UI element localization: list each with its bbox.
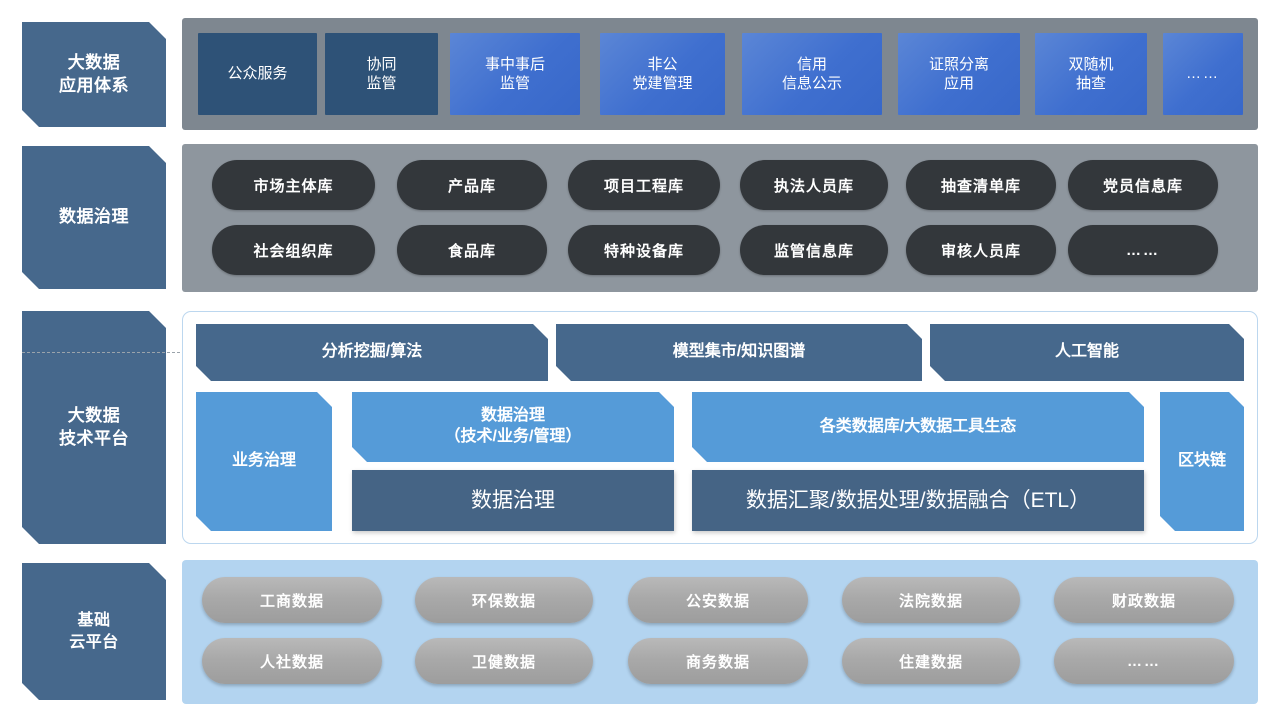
app-cell-line1: 公众服务 — [227, 64, 287, 84]
app-cell-nonpublic-party-building[interactable]: 非公 党建管理 — [600, 33, 725, 115]
tier-label-app-system[interactable]: 大数据 应用体系 — [22, 22, 166, 127]
app-cell-line2: 抽查 — [1068, 74, 1113, 94]
tech-box-etl[interactable]: 数据汇聚/数据处理/数据融合（ETL） — [692, 470, 1144, 531]
gov-pill-label: 监管信息库 — [774, 240, 854, 261]
gov-pill-supervision-info[interactable]: 监管信息库 — [740, 225, 888, 275]
tier-label-cloud-platform[interactable]: 基础 云平台 — [22, 563, 166, 700]
app-cell-line2: 信息公示 — [782, 74, 842, 94]
cloud-pill-label: 环保数据 — [472, 590, 536, 611]
gov-pill-audit-personnel[interactable]: 审核人员库 — [906, 225, 1056, 275]
tier-label-line1: 基础 — [69, 610, 119, 631]
tech-box-artificial-intelligence[interactable]: 人工智能 — [930, 324, 1244, 381]
cloud-pill-finance-data[interactable]: 财政数据 — [1054, 577, 1234, 623]
cloud-pill-human-resources-data[interactable]: 人社数据 — [202, 638, 382, 684]
tech-box-business-governance[interactable]: 业务治理 — [196, 392, 332, 531]
cloud-pill-health-data[interactable]: 卫健数据 — [415, 638, 593, 684]
app-cell-line1: 证照分离 — [929, 55, 989, 75]
tech-box-label: 人工智能 — [1055, 342, 1119, 363]
app-cell-line1: 事中事后 — [485, 55, 545, 75]
gov-pill-label: 党员信息库 — [1103, 175, 1183, 196]
app-cell-line1: 协同 — [366, 55, 396, 75]
gov-pill-special-equipment[interactable]: 特种设备库 — [568, 225, 720, 275]
gov-pill-label: 项目工程库 — [604, 175, 684, 196]
gov-pill-enforcement-personnel[interactable]: 执法人员库 — [740, 160, 888, 210]
cloud-pill-environmental-data[interactable]: 环保数据 — [415, 577, 593, 623]
app-cell-double-random-inspection[interactable]: 双随机 抽查 — [1035, 33, 1147, 115]
tech-box-database-ecosystem[interactable]: 各类数据库/大数据工具生态 — [692, 392, 1144, 462]
gov-pill-party-member-info[interactable]: 党员信息库 — [1068, 160, 1218, 210]
gov-pill-label: 社会组织库 — [253, 240, 333, 261]
cloud-pill-housing-construction-data[interactable]: 住建数据 — [842, 638, 1020, 684]
gov-pill-label: 产品库 — [448, 175, 496, 196]
tech-box-analysis-mining-algorithm[interactable]: 分析挖掘/算法 — [196, 324, 548, 381]
cloud-pill-public-security-data[interactable]: 公安数据 — [628, 577, 808, 623]
tier-label-line2: 技术平台 — [59, 428, 129, 450]
app-cell-line1: 非公 — [632, 55, 692, 75]
gov-pill-label: 抽查清单库 — [941, 175, 1021, 196]
app-cell-credit-disclosure[interactable]: 信用 信息公示 — [742, 33, 882, 115]
cloud-pill-court-data[interactable]: 法院数据 — [842, 577, 1020, 623]
cloud-pill-label: 人社数据 — [260, 651, 324, 672]
app-cell-line2: 监管 — [485, 74, 545, 94]
gov-pill-label: …… — [1126, 242, 1160, 259]
app-cell-line2: 党建管理 — [632, 74, 692, 94]
cloud-pill-label: 卫健数据 — [472, 651, 536, 672]
gov-pill-food[interactable]: 食品库 — [397, 225, 547, 275]
cloud-pill-label: …… — [1127, 653, 1161, 670]
tech-box-model-market-knowledge-graph[interactable]: 模型集市/知识图谱 — [556, 324, 922, 381]
tier-label-line1: 大数据 — [59, 405, 129, 427]
cloud-pill-more[interactable]: …… — [1054, 638, 1234, 684]
tech-box-label: 区块链 — [1178, 451, 1226, 472]
gov-pill-inspection-list[interactable]: 抽查清单库 — [906, 160, 1056, 210]
tech-box-label: 数据治理 — [471, 487, 555, 514]
gov-pill-label: 市场主体库 — [253, 175, 333, 196]
tech-box-label: 分析挖掘/算法 — [322, 342, 422, 363]
tier-label-data-governance[interactable]: 数据治理 — [22, 146, 166, 289]
cloud-pill-label: 商务数据 — [686, 651, 750, 672]
gov-pill-more[interactable]: …… — [1068, 225, 1218, 275]
cloud-pill-label: 住建数据 — [899, 651, 963, 672]
tech-box-data-governance-tech[interactable]: 数据治理 （技术/业务/管理） — [352, 392, 674, 462]
tech-box-line2: （技术/业务/管理） — [445, 427, 582, 448]
app-cell-collaborative-supervision[interactable]: 协同 监管 — [325, 33, 438, 115]
cloud-pill-label: 财政数据 — [1112, 590, 1176, 611]
app-cell-public-service[interactable]: 公众服务 — [198, 33, 317, 115]
gov-pill-label: 特种设备库 — [604, 240, 684, 261]
tier-label-line1: 数据治理 — [59, 206, 129, 228]
tier-connector-dashed-line — [22, 352, 185, 353]
tech-box-label: 业务治理 — [232, 451, 296, 472]
architecture-diagram: 大数据 应用体系 公众服务 协同 监管 事中事后 监管 非公 党建管理 信用 信… — [0, 0, 1280, 720]
gov-pill-label: 食品库 — [448, 240, 496, 261]
gov-pill-label: 执法人员库 — [774, 175, 854, 196]
tech-box-blockchain[interactable]: 区块链 — [1160, 392, 1244, 531]
tier-label-tech-platform[interactable]: 大数据 技术平台 — [22, 311, 166, 544]
app-cell-line2: 应用 — [929, 74, 989, 94]
app-cell-license-separation[interactable]: 证照分离 应用 — [898, 33, 1020, 115]
cloud-pill-label: 法院数据 — [899, 590, 963, 611]
gov-pill-social-organization[interactable]: 社会组织库 — [212, 225, 375, 275]
gov-pill-product[interactable]: 产品库 — [397, 160, 547, 210]
cloud-pill-industry-commerce-data[interactable]: 工商数据 — [202, 577, 382, 623]
cloud-pill-commerce-data[interactable]: 商务数据 — [628, 638, 808, 684]
app-cell-during-after-supervision[interactable]: 事中事后 监管 — [450, 33, 580, 115]
gov-pill-market-entity[interactable]: 市场主体库 — [212, 160, 375, 210]
app-cell-line1: …… — [1186, 64, 1220, 84]
cloud-pill-label: 公安数据 — [686, 590, 750, 611]
tech-box-label: 模型集市/知识图谱 — [673, 342, 805, 363]
gov-pill-label: 审核人员库 — [941, 240, 1021, 261]
app-cell-line1: 双随机 — [1068, 55, 1113, 75]
app-cell-line2: 监管 — [366, 74, 396, 94]
tier-label-line2: 云平台 — [69, 632, 119, 653]
app-cell-more[interactable]: …… — [1163, 33, 1243, 115]
tech-box-label: 各类数据库/大数据工具生态 — [820, 417, 1016, 438]
gov-pill-project-engineering[interactable]: 项目工程库 — [568, 160, 720, 210]
tech-box-line1: 数据治理 — [445, 406, 582, 427]
tier-label-line2: 应用体系 — [59, 75, 129, 97]
tech-box-data-governance-lower[interactable]: 数据治理 — [352, 470, 674, 531]
tier-label-line1: 大数据 — [59, 52, 129, 74]
app-cell-line1: 信用 — [782, 55, 842, 75]
tech-box-label: 数据汇聚/数据处理/数据融合（ETL） — [746, 487, 1090, 514]
cloud-pill-label: 工商数据 — [260, 590, 324, 611]
